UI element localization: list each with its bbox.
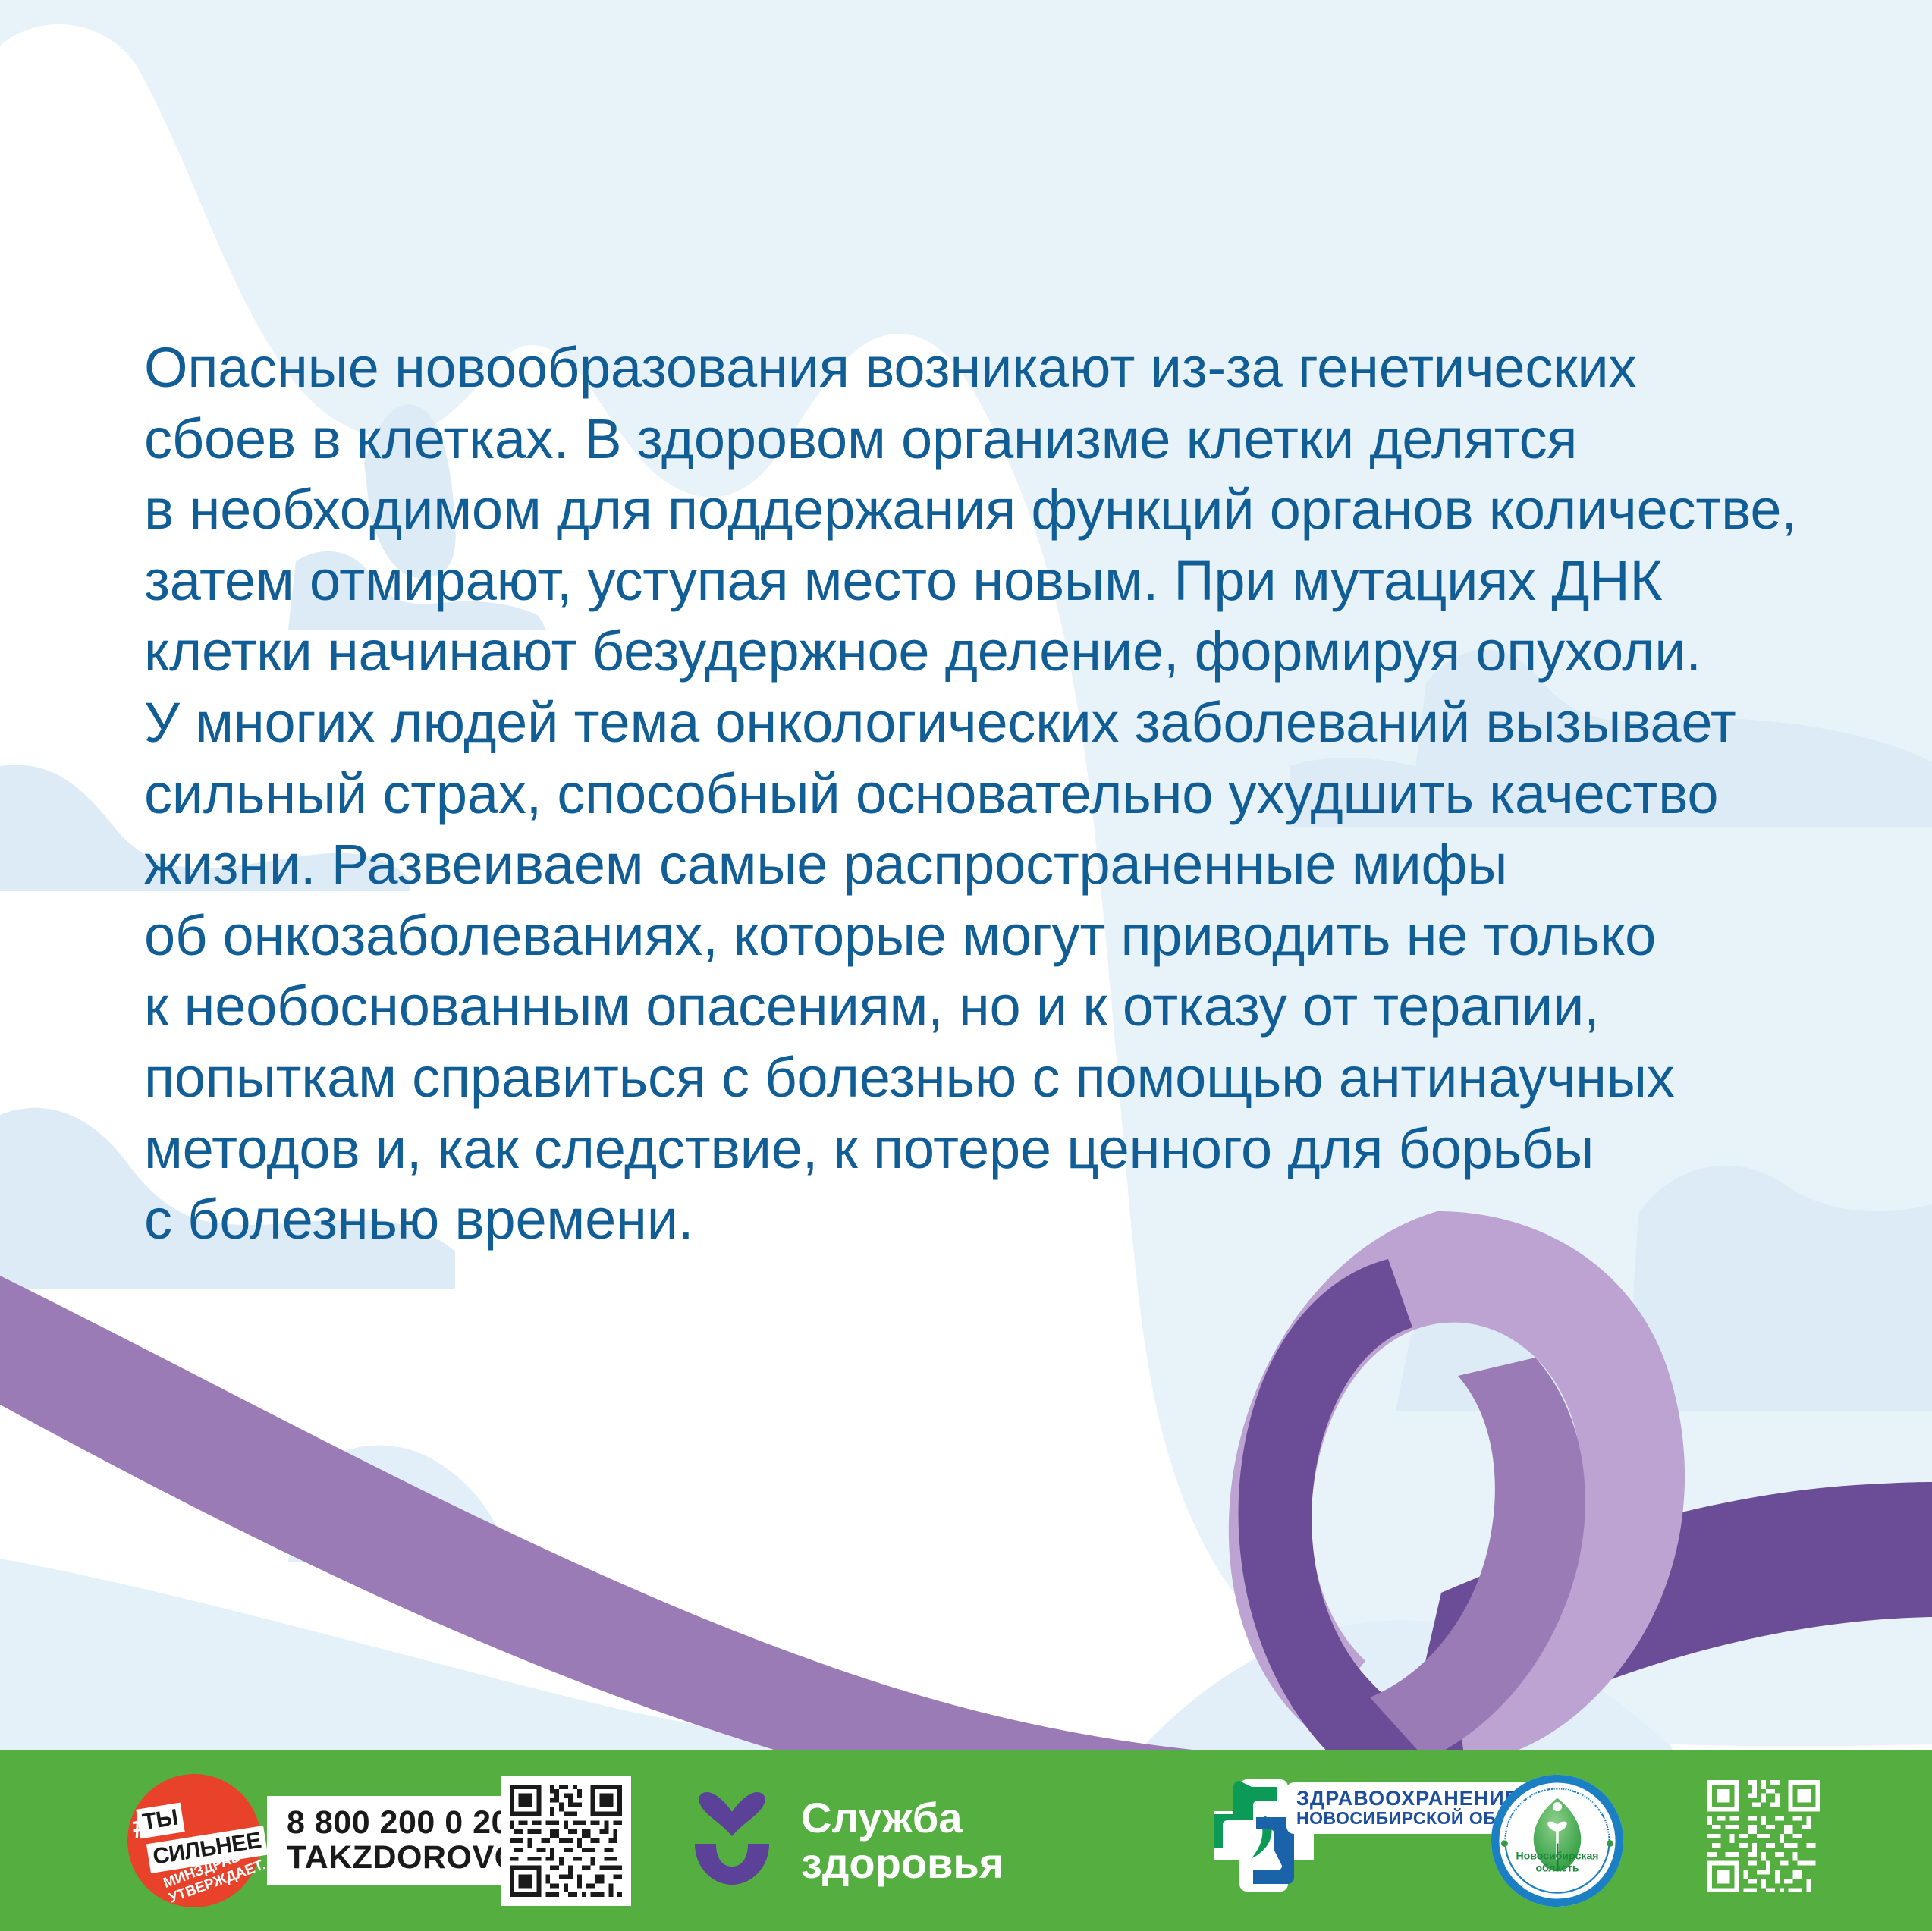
sluzhba-zdorovya-text: Служба здоровья: [801, 1795, 1004, 1886]
qr-code-right-icon[interactable]: [1703, 1776, 1833, 1906]
qr-right-slot: [1703, 1750, 1833, 1931]
regional-center-seal-slot: Региональный центр общественного здоровь…: [1491, 1750, 1624, 1931]
qr-code-left-icon[interactable]: [501, 1776, 631, 1906]
seal-center-line1: Новосибирская: [1516, 1850, 1598, 1862]
qr-left-slot: [501, 1750, 631, 1931]
sluzhba-line1: Служба: [801, 1795, 1004, 1841]
poster-root: Опасные новообразования возникают из-за …: [0, 0, 1932, 1931]
nso-health-logo: ЗДРАВООХРАНЕНИЕ НОВОСИБИРСКОЙ ОБЛАСТИ: [1214, 1778, 1441, 1904]
body-paragraph: Опасные новообразования возникают из-за …: [144, 332, 1798, 1255]
seal-center-line2: область: [1535, 1861, 1579, 1873]
sluzhba-zdorovya-logo: Служба здоровья: [690, 1792, 1004, 1889]
nso-health-slot: ЗДРАВООХРАНЕНИЕ НОВОСИБИРСКОЙ ОБЛАСТИ: [1214, 1750, 1441, 1931]
footer-bar: # ТЫ СИЛЬНЕЕ МИНЗДРАВ УТВЕРЖДАЕТ. 8 800 …: [0, 1750, 1932, 1931]
minzdrav-badge: # ТЫ СИЛЬНЕЕ МИНЗДРАВ УТВЕРЖДАЕТ.: [127, 1774, 261, 1907]
sluzhba-zdorovya-slot: Служба здоровья: [690, 1750, 1004, 1931]
minzdrav-badge-slot: # ТЫ СИЛЬНЕЕ МИНЗДРАВ УТВЕРЖДАЕТ.: [127, 1750, 261, 1931]
seal-dot-right: [1607, 1840, 1613, 1847]
sluzhba-line2: здоровья: [801, 1841, 1004, 1886]
heart-smile-icon: [690, 1792, 774, 1889]
seal-dot-left: [1501, 1840, 1508, 1847]
regional-center-seal: Региональный центр общественного здоровь…: [1491, 1774, 1624, 1907]
body-copy: Опасные новообразования возникают из-за …: [144, 332, 1798, 1255]
